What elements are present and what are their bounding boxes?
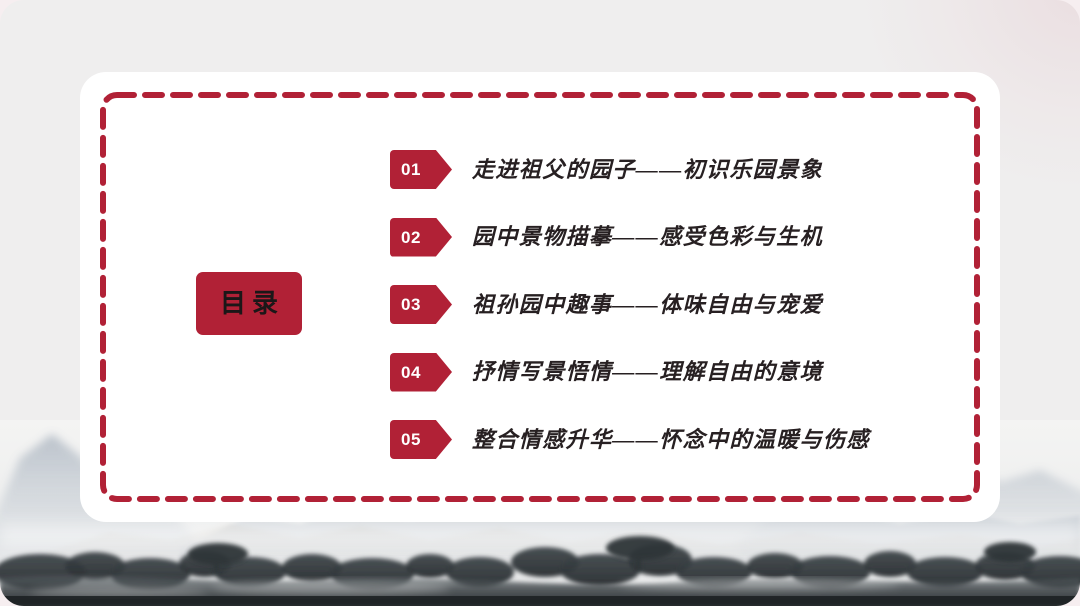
toc-title-badge: 目录 bbox=[196, 272, 302, 335]
item-number: 03 bbox=[401, 296, 421, 313]
item-label: 抒情写景悟情——理解自由的意境 bbox=[472, 361, 823, 383]
item-number-badge: 01 bbox=[390, 150, 452, 189]
item-number-badge: 05 bbox=[390, 420, 452, 459]
item-number: 02 bbox=[401, 229, 421, 246]
list-item[interactable]: 01 走进祖父的园子——初识乐园景象 bbox=[390, 150, 870, 189]
item-number: 04 bbox=[401, 364, 421, 381]
list-item[interactable]: 03 祖孙园中趣事——体味自由与宠爱 bbox=[390, 285, 870, 324]
list-item[interactable]: 02 园中景物描摹——感受色彩与生机 bbox=[390, 218, 870, 257]
item-label: 园中景物描摹——感受色彩与生机 bbox=[472, 226, 823, 248]
item-label: 整合情感升华——怀念中的温暖与伤感 bbox=[472, 429, 870, 451]
item-number-badge: 04 bbox=[390, 353, 452, 392]
item-number: 05 bbox=[401, 431, 421, 448]
content-card: 目录 01 走进祖父的园子——初识乐园景象 02 园中景物描摹——感受色彩与生机… bbox=[80, 72, 1000, 522]
list-item[interactable]: 05 整合情感升华——怀念中的温暖与伤感 bbox=[390, 420, 870, 459]
slide-canvas: 目录 01 走进祖父的园子——初识乐园景象 02 园中景物描摹——感受色彩与生机… bbox=[0, 0, 1080, 606]
toc-list: 01 走进祖父的园子——初识乐园景象 02 园中景物描摹——感受色彩与生机 03… bbox=[390, 150, 870, 459]
item-number: 01 bbox=[401, 161, 421, 178]
toc-title-text: 目录 bbox=[214, 291, 284, 317]
item-number-badge: 03 bbox=[390, 285, 452, 324]
item-label: 祖孙园中趣事——体味自由与宠爱 bbox=[472, 294, 823, 316]
item-label: 走进祖父的园子——初识乐园景象 bbox=[472, 159, 823, 181]
list-item[interactable]: 04 抒情写景悟情——理解自由的意境 bbox=[390, 353, 870, 392]
item-number-badge: 02 bbox=[390, 218, 452, 257]
